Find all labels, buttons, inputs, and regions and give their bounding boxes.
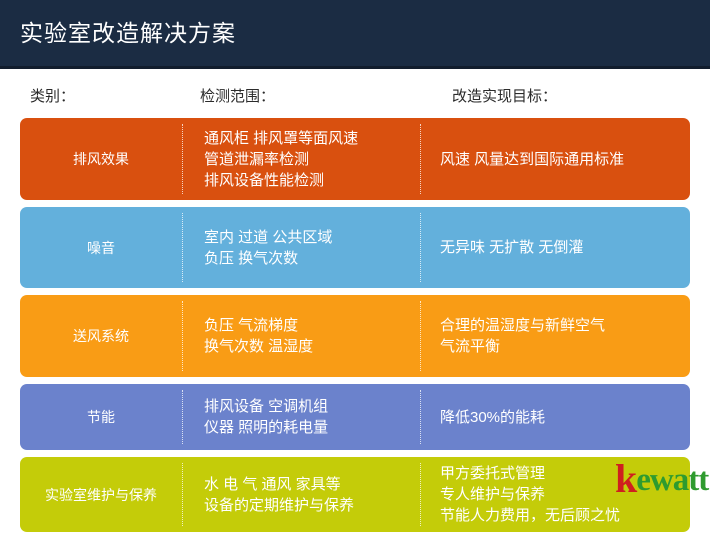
column-header-category: 类别： (30, 86, 75, 108)
row-scope-line: 通风柜 排风罩等面风速 (204, 128, 358, 149)
table-row: 噪音室内 过道 公共区域负压 换气次数无异味 无扩散 无倒灌 (20, 207, 690, 288)
row-goal-line: 降低30%的能耗 (440, 407, 545, 428)
row-scope: 室内 过道 公共区域负压 换气次数 (182, 207, 420, 288)
row-category: 送风系统 (20, 295, 182, 377)
row-goal-line: 节能人力费用，无后顾之忧 (440, 505, 620, 526)
row-goal: 合理的温湿度与新鲜空气气流平衡 (420, 295, 690, 377)
logo-letter-k: k (615, 456, 636, 501)
row-scope-line: 负压 换气次数 (204, 248, 332, 269)
row-scope-line: 排风设备 空调机组 (204, 396, 328, 417)
row-scope-line: 排风设备性能检测 (204, 170, 358, 191)
row-category: 排风效果 (20, 118, 182, 200)
row-goal: 风速 风量达到国际通用标准 (420, 118, 690, 200)
logo-letters-ewatt: ewatt (636, 462, 708, 498)
row-scope: 排风设备 空调机组仪器 照明的耗电量 (182, 384, 420, 450)
column-header-goal: 改造实现目标： (452, 86, 557, 108)
row-goal-line: 专人维护与保养 (440, 484, 620, 505)
row-category: 实验室维护与保养 (20, 457, 182, 532)
page-title: 实验室改造解决方案 (20, 19, 236, 47)
table-row: 实验室维护与保养水 电 气 通风 家具等设备的定期维护与保养甲方委托式管理专人维… (20, 457, 690, 532)
row-scope: 水 电 气 通风 家具等设备的定期维护与保养 (182, 457, 420, 532)
row-goal-line: 风速 风量达到国际通用标准 (440, 149, 624, 170)
brand-logo: kewatt (615, 462, 708, 497)
row-goal-line: 无异味 无扩散 无倒灌 (440, 237, 583, 258)
table-row: 送风系统负压 气流梯度换气次数 温湿度合理的温湿度与新鲜空气气流平衡 (20, 295, 690, 377)
row-category: 噪音 (20, 207, 182, 288)
row-scope: 负压 气流梯度换气次数 温湿度 (182, 295, 420, 377)
row-scope: 通风柜 排风罩等面风速管道泄漏率检测排风设备性能检测 (182, 118, 420, 200)
row-scope-line: 仪器 照明的耗电量 (204, 417, 328, 438)
row-goal: 降低30%的能耗 (420, 384, 690, 450)
row-scope-line: 设备的定期维护与保养 (204, 495, 354, 516)
column-header-scope: 检测范围： (200, 86, 275, 108)
solution-table: 排风效果通风柜 排风罩等面风速管道泄漏率检测排风设备性能检测风速 风量达到国际通… (20, 118, 690, 539)
header-bar-underline (0, 66, 710, 69)
row-scope-line: 水 电 气 通风 家具等 (204, 474, 354, 495)
row-scope-line: 换气次数 温湿度 (204, 336, 313, 357)
row-category: 节能 (20, 384, 182, 450)
column-headers: 类别： 检测范围： 改造实现目标： (0, 86, 710, 112)
row-scope-line: 室内 过道 公共区域 (204, 227, 332, 248)
row-scope-line: 管道泄漏率检测 (204, 149, 358, 170)
table-row: 排风效果通风柜 排风罩等面风速管道泄漏率检测排风设备性能检测风速 风量达到国际通… (20, 118, 690, 200)
row-goal-line: 合理的温湿度与新鲜空气 (440, 315, 605, 336)
row-scope-line: 负压 气流梯度 (204, 315, 313, 336)
row-goal-line: 气流平衡 (440, 336, 605, 357)
row-goal: 无异味 无扩散 无倒灌 (420, 207, 690, 288)
row-goal-line: 甲方委托式管理 (440, 463, 620, 484)
table-row: 节能排风设备 空调机组仪器 照明的耗电量降低30%的能耗 (20, 384, 690, 450)
